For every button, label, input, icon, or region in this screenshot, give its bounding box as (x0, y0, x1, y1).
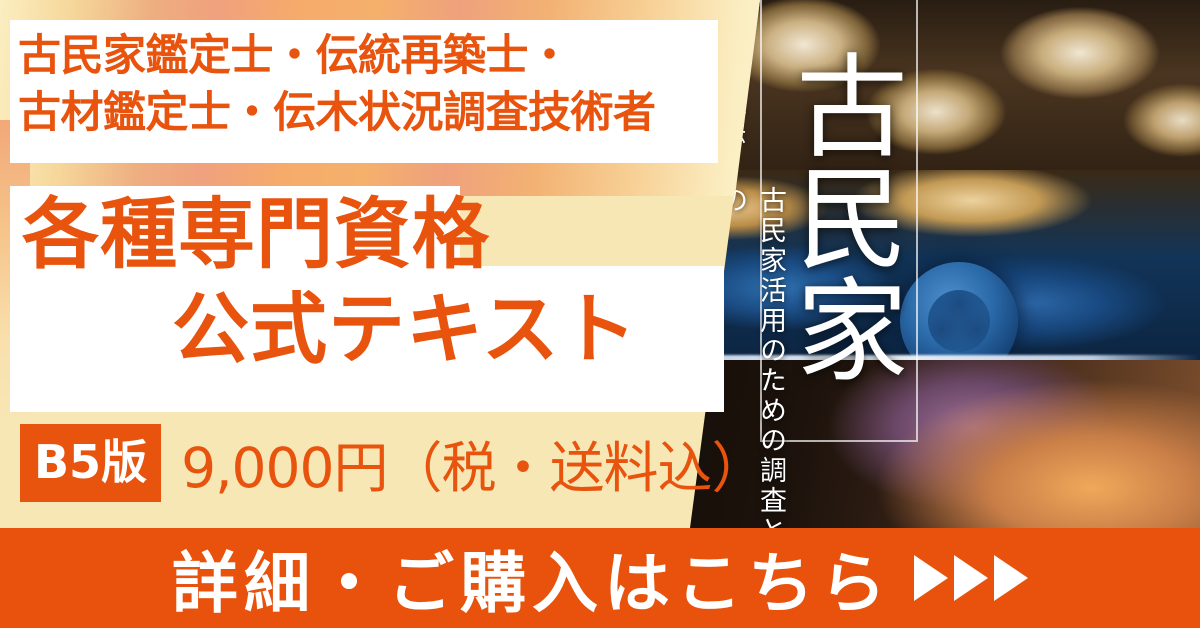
price-row: B5版 9,000円（税・送料込） (20, 424, 766, 502)
cta-label: 詳細・ご購入はこちら (172, 530, 892, 626)
cta-button-bar[interactable]: 詳細・ご購入はこちら (0, 528, 1200, 628)
triangle-right-icon (914, 555, 948, 601)
triangle-right-icon (954, 555, 988, 601)
certifications-line-1: 古民家鑑定士・伝統再築士・ (18, 28, 718, 85)
price-amount: 9,000円（税・送料込） (181, 423, 765, 503)
cover-title: 古民家 (770, 6, 910, 426)
headline-line-2: 公式テキスト (0, 291, 724, 372)
promotional-banner: 古民家 伝統構法 古民家活用のための調査と再生の 古民家鑑定士・伝統再築士・ 古… (0, 0, 1200, 628)
cta-arrows-group (914, 555, 1028, 601)
headline-line-1: 各種専門資格 (0, 196, 724, 277)
format-badge-b5: B5版 (20, 424, 161, 502)
certifications-block: 古民家鑑定士・伝統再築士・ 古材鑑定士・伝木状況調査技術者 (18, 28, 718, 142)
headline-block: 各種専門資格 公式テキスト (0, 188, 724, 372)
certifications-line-2: 古材鑑定士・伝木状況調査技術者 (18, 85, 718, 142)
triangle-right-icon (994, 555, 1028, 601)
